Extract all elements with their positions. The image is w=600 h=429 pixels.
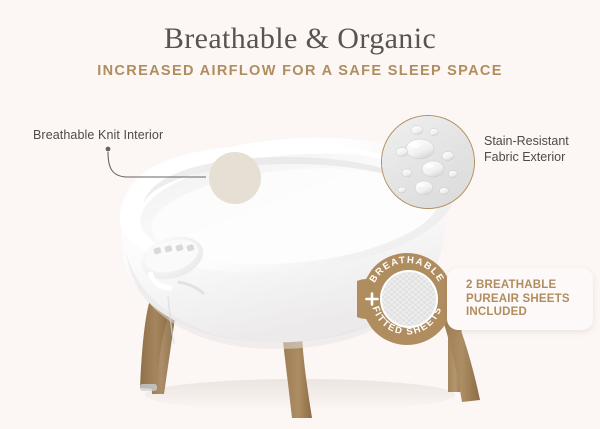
knit-interior-swatch [209, 152, 261, 204]
page-title: Breathable & Organic [0, 21, 600, 57]
stain-resistant-inset-circle [381, 115, 475, 209]
annotation-right-line2: Fabric Exterior [484, 149, 569, 165]
control-pod [136, 230, 209, 294]
product-feature-graphic: Breathable & Organic INCREASED AIRFLOW F… [0, 0, 600, 429]
page-subtitle: INCREASED AIRFLOW FOR A SAFE SLEEP SPACE [0, 63, 600, 79]
leader-line-left [106, 147, 206, 177]
annotation-right-line1: Stain-Resistant [484, 133, 569, 149]
callout-text: 2 BREATHABLE PUREAIR SHEETS INCLUDED [466, 279, 588, 320]
annotation-breathable-knit-interior: Breathable Knit Interior [33, 128, 163, 142]
water-droplets-icon [382, 116, 474, 208]
breathable-fitted-sheets-badge: BREATHABLE FITTED SHEETS [357, 249, 457, 349]
annotation-stain-resistant-fabric-exterior: Stain-Resistant Fabric Exterior [484, 133, 569, 165]
sheets-included-callout-card: 2 BREATHABLE PUREAIR SHEETS INCLUDED [447, 268, 593, 330]
